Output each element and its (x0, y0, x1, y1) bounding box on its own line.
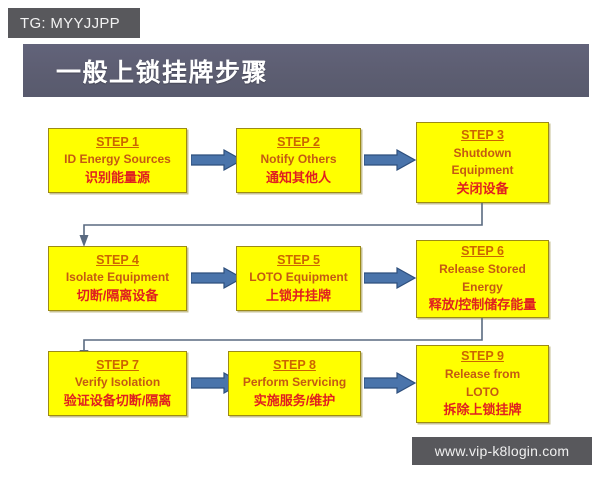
step-8-english: Perform Servicing (243, 375, 346, 391)
step-8-title: STEP 8 (273, 358, 316, 374)
step-6-chinese: 释放/控制储存能量 (429, 297, 537, 313)
arrow-step5-to-step6 (364, 267, 416, 289)
step-1-chinese: 识别能量源 (85, 170, 150, 186)
step-7-english: Verify Isolation (75, 375, 160, 391)
step-6-english-line1: Release Stored (439, 262, 526, 278)
step-4-chinese: 切断/隔离设备 (77, 288, 159, 304)
step-9-english-line1: Release from (445, 367, 520, 383)
step-2-english: Notify Others (260, 152, 336, 168)
step-9-title: STEP 9 (461, 349, 504, 365)
step-2-chinese: 通知其他人 (266, 170, 331, 186)
step-box-3[interactable]: STEP 3 Shutdown Equipment 关闭设备 (416, 122, 549, 203)
step-8-chinese: 实施服务/维护 (254, 393, 336, 409)
step-3-title: STEP 3 (461, 128, 504, 144)
step-7-chinese: 验证设备切断/隔离 (64, 393, 172, 409)
watermark-label: www.vip-k8login.com (435, 443, 570, 459)
step-2-title: STEP 2 (277, 135, 320, 151)
step-5-chinese: 上锁并挂牌 (266, 288, 331, 304)
step-5-title: STEP 5 (277, 253, 320, 269)
step-box-5[interactable]: STEP 5 LOTO Equipment 上锁并挂牌 (236, 246, 361, 311)
step-9-chinese: 拆除上锁挂牌 (443, 402, 521, 418)
tg-tag: TG: MYYJJPP (8, 8, 140, 38)
step-1-english: ID Energy Sources (64, 152, 171, 168)
step-box-2[interactable]: STEP 2 Notify Others 通知其他人 (236, 128, 361, 193)
tg-tag-label: TG: MYYJJPP (20, 15, 120, 32)
step-7-title: STEP 7 (96, 358, 139, 374)
step-box-8[interactable]: STEP 8 Perform Servicing 实施服务/维护 (228, 351, 361, 416)
step-box-9[interactable]: STEP 9 Release from LOTO 拆除上锁挂牌 (416, 345, 549, 423)
step-box-4[interactable]: STEP 4 Isolate Equipment 切断/隔离设备 (48, 246, 187, 311)
step-box-6[interactable]: STEP 6 Release Stored Energy 释放/控制储存能量 (416, 240, 549, 318)
title-banner: 一般上锁挂牌步骤 (23, 44, 589, 97)
arrow-step8-to-step9 (364, 372, 416, 394)
step-6-english-line2: Energy (462, 280, 503, 296)
step-3-chinese: 关闭设备 (456, 181, 508, 197)
arrow-step2-to-step3 (364, 149, 416, 171)
diagram-canvas: TG: MYYJJPP 一般上锁挂牌步骤 STEP 1 ID Energy So… (0, 0, 600, 480)
step-5-english: LOTO Equipment (249, 270, 347, 286)
watermark: www.vip-k8login.com (412, 437, 592, 465)
step-6-title: STEP 6 (461, 244, 504, 260)
step-4-english: Isolate Equipment (66, 270, 169, 286)
step-4-title: STEP 4 (96, 253, 139, 269)
step-box-1[interactable]: STEP 1 ID Energy Sources 识别能量源 (48, 128, 187, 193)
step-3-english-line2: Equipment (452, 163, 514, 179)
step-1-title: STEP 1 (96, 135, 139, 151)
step-9-english-line2: LOTO (466, 385, 499, 401)
step-3-english-line1: Shutdown (454, 146, 512, 162)
step-box-7[interactable]: STEP 7 Verify Isolation 验证设备切断/隔离 (48, 351, 187, 416)
page-title: 一般上锁挂牌步骤 (56, 53, 268, 89)
